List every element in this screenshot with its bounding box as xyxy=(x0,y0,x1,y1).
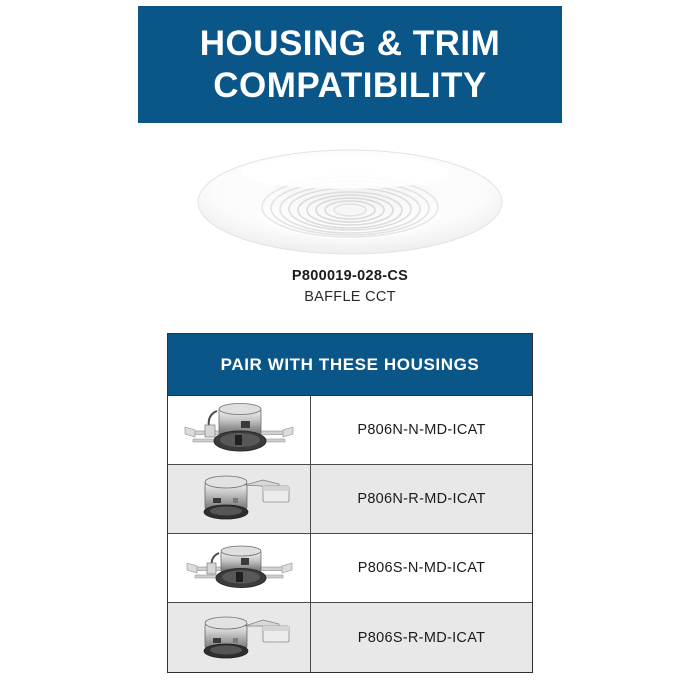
product-hero-image xyxy=(195,142,505,262)
housing-thumbnail-remodel-shallow xyxy=(168,603,311,672)
housing-model-cell: P806N-N-MD-ICAT xyxy=(311,396,532,464)
housing-model-cell: P806S-R-MD-ICAT xyxy=(311,603,532,672)
housing-model-label: P806S-R-MD-ICAT xyxy=(358,630,486,646)
compatibility-sheet: HOUSING & TRIM COMPATIBILITY xyxy=(0,0,700,700)
table-row: P806S-N-MD-ICAT xyxy=(168,534,532,603)
page-header-banner: HOUSING & TRIM COMPATIBILITY xyxy=(138,6,562,123)
housing-model-label: P806S-N-MD-ICAT xyxy=(358,560,486,576)
table-row: P806S-R-MD-ICAT xyxy=(168,603,532,672)
product-caption: P800019-028-CS BAFFLE CCT xyxy=(0,266,700,308)
product-sku: P800019-028-CS xyxy=(0,266,700,287)
housing-model-label: P806N-R-MD-ICAT xyxy=(357,491,485,507)
table-row: P806N-N-MD-ICAT xyxy=(168,396,532,465)
banner-title-line-1: HOUSING & TRIM xyxy=(200,23,501,64)
housing-thumbnail-new-construction-shallow xyxy=(168,534,311,602)
product-description: BAFFLE CCT xyxy=(0,287,700,308)
table-header-label: PAIR WITH THESE HOUSINGS xyxy=(221,355,480,375)
housing-model-label: P806N-N-MD-ICAT xyxy=(357,422,485,438)
table-row: P806N-R-MD-ICAT xyxy=(168,465,532,534)
housing-model-cell: P806S-N-MD-ICAT xyxy=(311,534,532,602)
banner-title-line-2: COMPATIBILITY xyxy=(213,65,487,106)
housing-compatibility-table: PAIR WITH THESE HOUSINGS xyxy=(167,333,533,673)
table-header: PAIR WITH THESE HOUSINGS xyxy=(168,334,532,396)
housing-model-cell: P806N-R-MD-ICAT xyxy=(311,465,532,533)
housing-thumbnail-remodel-ic xyxy=(168,465,311,533)
housing-thumbnail-new-construction-ic xyxy=(168,396,311,464)
